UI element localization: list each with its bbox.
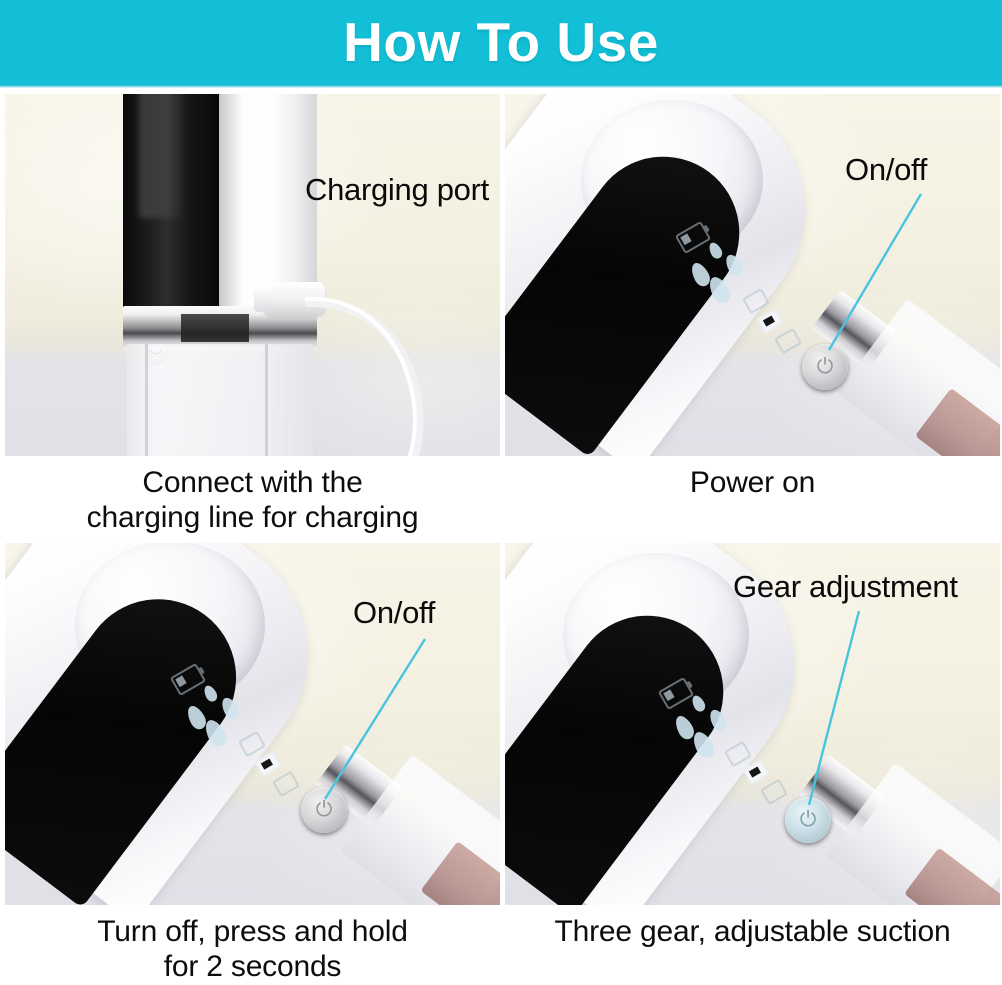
gear-adjust-knob[interactable] — [785, 797, 831, 843]
panel-power-on: On/off Power on — [505, 94, 1000, 501]
header-banner: How To Use — [0, 0, 1002, 85]
panel-turn-off-photo: On/off — [5, 543, 500, 905]
charging-cable — [305, 286, 485, 456]
panel-gear-photo: Gear adjustment — [505, 543, 1000, 905]
panel-power-on-caption: Power on — [505, 456, 1000, 501]
callout-label-onoff: On/off — [353, 595, 435, 631]
panel-charging-photo: Charging port — [5, 94, 500, 456]
panel-turn-off-caption: Turn off, press and hold for 2 seconds — [5, 905, 500, 985]
callout-label-onoff: On/off — [845, 152, 927, 188]
callout-label-gear-adjustment: Gear adjustment — [733, 569, 958, 605]
callout-label-charging-port: Charging port — [305, 172, 489, 208]
page-title: How To Use — [343, 15, 659, 70]
power-knob[interactable] — [802, 344, 848, 390]
banner-bottom-edge — [0, 85, 1002, 88]
caption-line: charging line for charging — [5, 501, 500, 536]
power-knob[interactable] — [301, 787, 347, 833]
panel-power-on-photo: On/off — [505, 94, 1000, 456]
panel-charging-caption: Connect with the charging line for charg… — [5, 456, 500, 536]
panel-gear: Gear adjustment Three gear, adjustable s… — [505, 543, 1000, 950]
caption-line: for 2 seconds — [5, 950, 500, 985]
caption-line: Turn off, press and hold — [5, 915, 500, 950]
device-clear-cylinder — [127, 344, 313, 456]
caption-line: Connect with the — [5, 466, 500, 501]
panel-gear-caption: Three gear, adjustable suction — [505, 905, 1000, 950]
caption-line: Power on — [505, 466, 1000, 501]
caption-line: Three gear, adjustable suction — [505, 915, 1000, 950]
device-black-body — [123, 94, 233, 310]
panel-grid: Charging port Connect with the charging … — [0, 90, 1002, 978]
how-to-use-infographic: How To Use Charging port Connect wit — [0, 0, 1002, 978]
panel-turn-off: On/off Turn off, press and hold for 2 se… — [5, 543, 500, 985]
panel-charging: Charging port Connect with the charging … — [5, 94, 500, 536]
